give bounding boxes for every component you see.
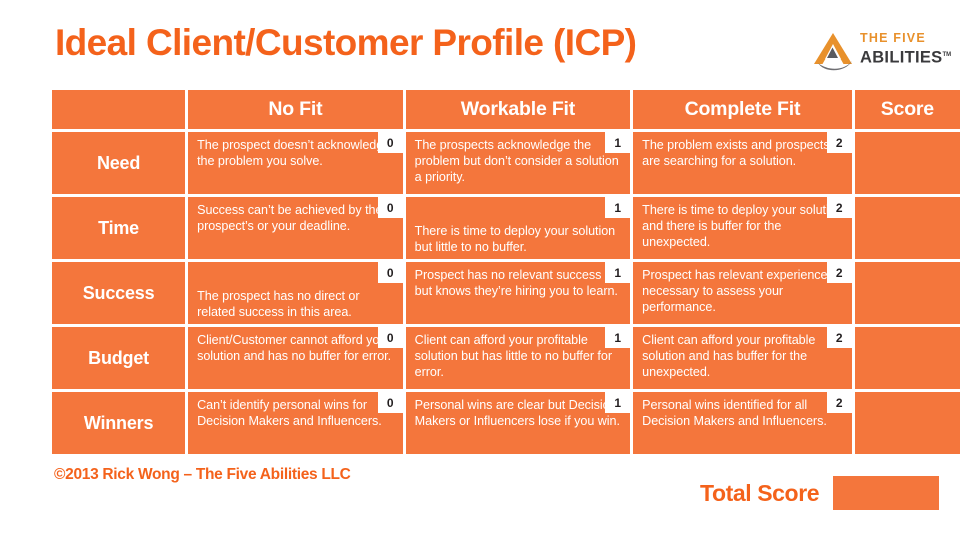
cell-description: The problem exists and prospects are sea… [642,137,843,169]
cell-score-entry[interactable] [855,197,960,259]
cell-workable-fit[interactable]: The prospects acknowledge the problem bu… [406,132,631,194]
table-row: Time Success can’t be achieved by the pr… [52,197,960,259]
cell-complete-fit[interactable]: The problem exists and prospects are sea… [633,132,852,194]
cell-score-entry[interactable] [855,392,960,454]
row-label-cell: Winners [52,392,185,454]
logo-abilities-text: ABILITIES [860,49,942,67]
score-badge: 2 [827,392,852,413]
score-badge: 0 [378,327,403,348]
cell-complete-fit[interactable]: There is time to deploy your solution an… [633,197,852,259]
score-badge: 2 [827,262,852,283]
five-abilities-mark-icon [812,30,856,72]
row-label-text: Time [98,218,139,239]
cell-workable-fit[interactable]: Prospect has no relevant success but kno… [406,262,631,324]
header-label-no-fit: No Fit [268,98,322,121]
cell-description: The prospects acknowledge the problem bu… [415,137,622,186]
cell-description: Prospect has relevant experience necessa… [642,267,843,316]
cell-description: Client/Customer cannot afford your solut… [197,332,394,364]
table-row: Success The prospect has no direct or re… [52,262,960,324]
score-badge: 2 [827,327,852,348]
icp-worksheet: Ideal Client/Customer Profile (ICP) THE … [0,0,980,548]
table-row: Budget Client/Customer cannot afford you… [52,327,960,389]
cell-workable-fit[interactable]: Personal wins are clear but Decision Mak… [406,392,631,454]
score-badge: 1 [605,327,630,348]
page-title: Ideal Client/Customer Profile (ICP) [55,22,636,64]
score-badge: 0 [378,262,403,283]
score-badge: 0 [378,392,403,413]
header-label-score: Score [881,98,934,121]
cell-complete-fit[interactable]: Personal wins identified for all Decisio… [633,392,852,454]
score-badge: 1 [605,132,630,153]
header-cell-workable-fit: Workable Fit [406,90,631,129]
trademark-symbol: TM [942,52,951,58]
cell-no-fit[interactable]: Client/Customer cannot afford your solut… [188,327,403,389]
cell-description: The prospect doesn’t acknowledge the pro… [197,137,394,169]
cell-no-fit[interactable]: The prospect has no direct or related su… [188,262,403,324]
total-score-input[interactable] [833,476,939,510]
row-label-text: Winners [84,413,153,434]
cell-complete-fit[interactable]: Prospect has relevant experience necessa… [633,262,852,324]
icp-scoring-table: No Fit Workable Fit Complete Fit Score N… [52,90,960,457]
copyright-notice: ©2013 Rick Wong – The Five Abilities LLC [54,466,351,484]
brand-logo: THE FIVE ABILITIESTM [812,28,962,74]
header-cell-complete-fit: Complete Fit [633,90,852,129]
cell-description: Success can’t be achieved by the prospec… [197,202,394,234]
row-label-cell: Need [52,132,185,194]
total-score-label: Total Score [700,480,819,507]
cell-score-entry[interactable] [855,262,960,324]
header-label-workable-fit: Workable Fit [461,98,575,121]
table-row: Need The prospect doesn’t acknowledge th… [52,132,960,194]
cell-no-fit[interactable]: The prospect doesn’t acknowledge the pro… [188,132,403,194]
score-badge: 2 [827,197,852,218]
row-label-cell: Budget [52,327,185,389]
row-label-cell: Success [52,262,185,324]
table-row: Winners Can’t identify personal wins for… [52,392,960,454]
cell-description: Client can afford your profitable soluti… [642,332,843,381]
score-badge: 1 [605,392,630,413]
header-cell-blank [52,90,185,129]
cell-complete-fit[interactable]: Client can afford your profitable soluti… [633,327,852,389]
cell-description: The prospect has no direct or related su… [197,288,394,320]
cell-description: Personal wins are clear but Decision Mak… [415,397,622,429]
cell-description: Can’t identify personal wins for Decisio… [197,397,394,429]
row-label-text: Need [97,153,140,174]
page-header: Ideal Client/Customer Profile (ICP) THE … [0,0,980,88]
score-badge: 2 [827,132,852,153]
cell-description: Personal wins identified for all Decisio… [642,397,843,429]
cell-score-entry[interactable] [855,132,960,194]
logo-line-abilities: ABILITIESTM [860,46,964,68]
header-label-complete-fit: Complete Fit [685,98,801,121]
cell-description: There is time to deploy your solution bu… [415,223,622,255]
row-label-cell: Time [52,197,185,259]
score-badge: 0 [378,132,403,153]
score-badge: 0 [378,197,403,218]
header-cell-score: Score [855,90,960,129]
total-score-block: Total Score [700,476,939,510]
cell-workable-fit[interactable]: There is time to deploy your solution bu… [406,197,631,259]
logo-line-the-five: THE FIVE [860,31,964,46]
cell-score-entry[interactable] [855,327,960,389]
cell-description: Client can afford your profitable soluti… [415,332,622,381]
cell-no-fit[interactable]: Can’t identify personal wins for Decisio… [188,392,403,454]
logo-wordmark: THE FIVE ABILITIESTM [860,31,964,68]
cell-no-fit[interactable]: Success can’t be achieved by the prospec… [188,197,403,259]
cell-description: There is time to deploy your solution an… [642,202,843,251]
cell-workable-fit[interactable]: Client can afford your profitable soluti… [406,327,631,389]
score-badge: 1 [605,262,630,283]
score-badge: 1 [605,197,630,218]
header-cell-no-fit: No Fit [188,90,403,129]
cell-description: Prospect has no relevant success but kno… [415,267,622,299]
row-label-text: Success [83,283,155,304]
row-label-text: Budget [88,348,149,369]
table-header-row: No Fit Workable Fit Complete Fit Score [52,90,960,129]
